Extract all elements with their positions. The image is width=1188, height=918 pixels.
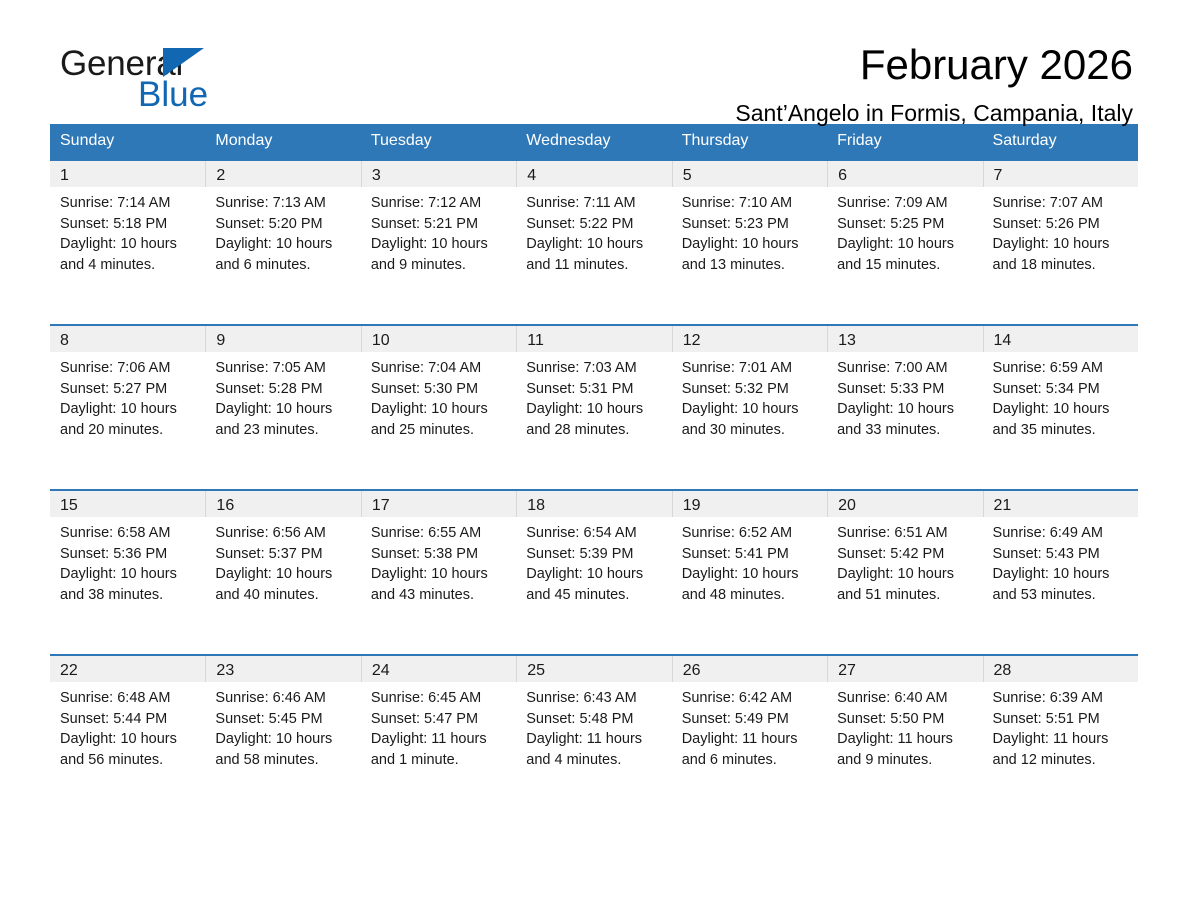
day-number: 8 [50, 326, 205, 352]
day-cell-inner: 27Sunrise: 6:40 AMSunset: 5:50 PMDayligh… [827, 656, 982, 805]
day-number: 15 [50, 491, 205, 517]
day-cell-inner: 6Sunrise: 7:09 AMSunset: 5:25 PMDaylight… [827, 161, 982, 324]
calendar-day-cell[interactable]: 19Sunrise: 6:52 AMSunset: 5:41 PMDayligh… [672, 490, 827, 655]
sunrise-text: Sunrise: 7:09 AM [837, 193, 974, 214]
daylight-text-line2: and 15 minutes. [837, 255, 974, 276]
calendar-day-cell[interactable]: 14Sunrise: 6:59 AMSunset: 5:34 PMDayligh… [983, 325, 1138, 490]
sunset-text: Sunset: 5:37 PM [215, 544, 352, 565]
daylight-text-line1: Daylight: 10 hours [837, 564, 974, 585]
daylight-text-line1: Daylight: 10 hours [993, 399, 1130, 420]
daylight-text-line2: and 1 minute. [371, 750, 508, 771]
daylight-text-line1: Daylight: 10 hours [993, 564, 1130, 585]
sunrise-text: Sunrise: 7:05 AM [215, 358, 352, 379]
sunrise-text: Sunrise: 6:59 AM [993, 358, 1130, 379]
weekday-header-thursday: Thursday [672, 124, 827, 160]
daylight-text-line1: Daylight: 10 hours [60, 729, 197, 750]
sunset-text: Sunset: 5:20 PM [215, 214, 352, 235]
calendar-day-cell[interactable]: 26Sunrise: 6:42 AMSunset: 5:49 PMDayligh… [672, 655, 827, 805]
sunset-text: Sunset: 5:27 PM [60, 379, 197, 400]
day-details: Sunrise: 6:40 AMSunset: 5:50 PMDaylight:… [827, 682, 982, 770]
calendar-day-cell[interactable]: 7Sunrise: 7:07 AMSunset: 5:26 PMDaylight… [983, 160, 1138, 325]
daylight-text-line1: Daylight: 10 hours [371, 399, 508, 420]
sunrise-text: Sunrise: 7:03 AM [526, 358, 663, 379]
day-cell-inner: 14Sunrise: 6:59 AMSunset: 5:34 PMDayligh… [983, 326, 1138, 489]
calendar-day-cell[interactable]: 2Sunrise: 7:13 AMSunset: 5:20 PMDaylight… [205, 160, 360, 325]
sunset-text: Sunset: 5:45 PM [215, 709, 352, 730]
daylight-text-line2: and 12 minutes. [993, 750, 1130, 771]
calendar-day-cell[interactable]: 10Sunrise: 7:04 AMSunset: 5:30 PMDayligh… [361, 325, 516, 490]
daylight-text-line1: Daylight: 11 hours [682, 729, 819, 750]
sunset-text: Sunset: 5:28 PM [215, 379, 352, 400]
sunset-text: Sunset: 5:48 PM [526, 709, 663, 730]
day-details: Sunrise: 6:48 AMSunset: 5:44 PMDaylight:… [50, 682, 205, 770]
daylight-text-line2: and 48 minutes. [682, 585, 819, 606]
day-details: Sunrise: 7:10 AMSunset: 5:23 PMDaylight:… [672, 187, 827, 275]
daylight-text-line2: and 33 minutes. [837, 420, 974, 441]
day-details: Sunrise: 7:01 AMSunset: 5:32 PMDaylight:… [672, 352, 827, 440]
calendar-week-row: 22Sunrise: 6:48 AMSunset: 5:44 PMDayligh… [50, 655, 1138, 805]
daylight-text-line2: and 28 minutes. [526, 420, 663, 441]
masthead: General Blue February 2026 Sant’Angelo i… [50, 0, 1138, 110]
sunrise-text: Sunrise: 7:06 AM [60, 358, 197, 379]
day-cell-inner: 9Sunrise: 7:05 AMSunset: 5:28 PMDaylight… [205, 326, 360, 489]
day-details: Sunrise: 6:43 AMSunset: 5:48 PMDaylight:… [516, 682, 671, 770]
daylight-text-line1: Daylight: 10 hours [60, 234, 197, 255]
day-details: Sunrise: 6:49 AMSunset: 5:43 PMDaylight:… [983, 517, 1138, 605]
daylight-text-line1: Daylight: 10 hours [215, 399, 352, 420]
sunrise-text: Sunrise: 7:01 AM [682, 358, 819, 379]
daylight-text-line1: Daylight: 10 hours [993, 234, 1130, 255]
daylight-text-line2: and 25 minutes. [371, 420, 508, 441]
day-number: 23 [205, 656, 360, 682]
calendar-day-cell[interactable]: 24Sunrise: 6:45 AMSunset: 5:47 PMDayligh… [361, 655, 516, 805]
day-cell-inner: 3Sunrise: 7:12 AMSunset: 5:21 PMDaylight… [361, 161, 516, 324]
day-cell-inner: 25Sunrise: 6:43 AMSunset: 5:48 PMDayligh… [516, 656, 671, 805]
sunrise-text: Sunrise: 6:45 AM [371, 688, 508, 709]
day-number: 14 [983, 326, 1138, 352]
sunrise-text: Sunrise: 6:51 AM [837, 523, 974, 544]
sunset-text: Sunset: 5:39 PM [526, 544, 663, 565]
day-details: Sunrise: 7:09 AMSunset: 5:25 PMDaylight:… [827, 187, 982, 275]
sunset-text: Sunset: 5:30 PM [371, 379, 508, 400]
daylight-text-line2: and 13 minutes. [682, 255, 819, 276]
daylight-text-line2: and 23 minutes. [215, 420, 352, 441]
daylight-text-line2: and 18 minutes. [993, 255, 1130, 276]
sunset-text: Sunset: 5:33 PM [837, 379, 974, 400]
daylight-text-line1: Daylight: 10 hours [215, 564, 352, 585]
calendar-day-cell[interactable]: 22Sunrise: 6:48 AMSunset: 5:44 PMDayligh… [50, 655, 205, 805]
logo-text-blue: Blue [138, 77, 208, 113]
day-cell-inner: 10Sunrise: 7:04 AMSunset: 5:30 PMDayligh… [361, 326, 516, 489]
day-details: Sunrise: 7:14 AMSunset: 5:18 PMDaylight:… [50, 187, 205, 275]
sunrise-text: Sunrise: 7:13 AM [215, 193, 352, 214]
day-cell-inner: 22Sunrise: 6:48 AMSunset: 5:44 PMDayligh… [50, 656, 205, 805]
calendar-day-cell[interactable]: 3Sunrise: 7:12 AMSunset: 5:21 PMDaylight… [361, 160, 516, 325]
day-cell-inner: 19Sunrise: 6:52 AMSunset: 5:41 PMDayligh… [672, 491, 827, 654]
daylight-text-line1: Daylight: 10 hours [60, 564, 197, 585]
calendar-day-cell[interactable]: 18Sunrise: 6:54 AMSunset: 5:39 PMDayligh… [516, 490, 671, 655]
sunrise-text: Sunrise: 6:42 AM [682, 688, 819, 709]
day-number: 4 [516, 161, 671, 187]
weekday-header-friday: Friday [827, 124, 982, 160]
day-cell-inner: 16Sunrise: 6:56 AMSunset: 5:37 PMDayligh… [205, 491, 360, 654]
daylight-text-line1: Daylight: 10 hours [215, 234, 352, 255]
calendar-day-cell[interactable]: 1Sunrise: 7:14 AMSunset: 5:18 PMDaylight… [50, 160, 205, 325]
sunset-text: Sunset: 5:32 PM [682, 379, 819, 400]
calendar-day-cell[interactable]: 6Sunrise: 7:09 AMSunset: 5:25 PMDaylight… [827, 160, 982, 325]
sunset-text: Sunset: 5:38 PM [371, 544, 508, 565]
weekday-header-sunday: Sunday [50, 124, 205, 160]
day-details: Sunrise: 6:46 AMSunset: 5:45 PMDaylight:… [205, 682, 360, 770]
day-number: 16 [205, 491, 360, 517]
day-details: Sunrise: 7:00 AMSunset: 5:33 PMDaylight:… [827, 352, 982, 440]
calendar-day-cell[interactable]: 5Sunrise: 7:10 AMSunset: 5:23 PMDaylight… [672, 160, 827, 325]
sunrise-text: Sunrise: 6:48 AM [60, 688, 197, 709]
day-number: 7 [983, 161, 1138, 187]
calendar-week-row: 8Sunrise: 7:06 AMSunset: 5:27 PMDaylight… [50, 325, 1138, 490]
day-cell-inner: 24Sunrise: 6:45 AMSunset: 5:47 PMDayligh… [361, 656, 516, 805]
sunset-text: Sunset: 5:50 PM [837, 709, 974, 730]
sunrise-text: Sunrise: 7:07 AM [993, 193, 1130, 214]
daylight-text-line1: Daylight: 10 hours [526, 399, 663, 420]
day-number: 12 [672, 326, 827, 352]
day-number: 11 [516, 326, 671, 352]
day-number: 22 [50, 656, 205, 682]
day-cell-inner: 13Sunrise: 7:00 AMSunset: 5:33 PMDayligh… [827, 326, 982, 489]
calendar-table: Sunday Monday Tuesday Wednesday Thursday… [50, 124, 1138, 805]
sunrise-text: Sunrise: 6:55 AM [371, 523, 508, 544]
day-details: Sunrise: 7:05 AMSunset: 5:28 PMDaylight:… [205, 352, 360, 440]
sunset-text: Sunset: 5:26 PM [993, 214, 1130, 235]
sunset-text: Sunset: 5:34 PM [993, 379, 1130, 400]
sunset-text: Sunset: 5:18 PM [60, 214, 197, 235]
sunrise-text: Sunrise: 7:11 AM [526, 193, 663, 214]
sunset-text: Sunset: 5:51 PM [993, 709, 1130, 730]
daylight-text-line2: and 56 minutes. [60, 750, 197, 771]
day-cell-inner: 26Sunrise: 6:42 AMSunset: 5:49 PMDayligh… [672, 656, 827, 805]
day-details: Sunrise: 7:03 AMSunset: 5:31 PMDaylight:… [516, 352, 671, 440]
day-number: 6 [827, 161, 982, 187]
sunrise-text: Sunrise: 6:54 AM [526, 523, 663, 544]
sunset-text: Sunset: 5:23 PM [682, 214, 819, 235]
daylight-text-line2: and 43 minutes. [371, 585, 508, 606]
day-details: Sunrise: 6:59 AMSunset: 5:34 PMDaylight:… [983, 352, 1138, 440]
calendar-day-cell[interactable]: 20Sunrise: 6:51 AMSunset: 5:42 PMDayligh… [827, 490, 982, 655]
sunset-text: Sunset: 5:43 PM [993, 544, 1130, 565]
day-cell-inner: 12Sunrise: 7:01 AMSunset: 5:32 PMDayligh… [672, 326, 827, 489]
day-cell-inner: 15Sunrise: 6:58 AMSunset: 5:36 PMDayligh… [50, 491, 205, 654]
calendar-day-cell[interactable]: 8Sunrise: 7:06 AMSunset: 5:27 PMDaylight… [50, 325, 205, 490]
daylight-text-line2: and 40 minutes. [215, 585, 352, 606]
day-details: Sunrise: 7:04 AMSunset: 5:30 PMDaylight:… [361, 352, 516, 440]
daylight-text-line1: Daylight: 11 hours [371, 729, 508, 750]
sunset-text: Sunset: 5:25 PM [837, 214, 974, 235]
day-number: 5 [672, 161, 827, 187]
daylight-text-line2: and 35 minutes. [993, 420, 1130, 441]
weekday-header-tuesday: Tuesday [361, 124, 516, 160]
day-number: 10 [361, 326, 516, 352]
day-number: 1 [50, 161, 205, 187]
sunset-text: Sunset: 5:22 PM [526, 214, 663, 235]
weekday-header-wednesday: Wednesday [516, 124, 671, 160]
day-details: Sunrise: 6:56 AMSunset: 5:37 PMDaylight:… [205, 517, 360, 605]
sunrise-text: Sunrise: 7:12 AM [371, 193, 508, 214]
daylight-text-line2: and 58 minutes. [215, 750, 352, 771]
daylight-text-line2: and 38 minutes. [60, 585, 197, 606]
sunrise-text: Sunrise: 6:40 AM [837, 688, 974, 709]
daylight-text-line2: and 6 minutes. [215, 255, 352, 276]
calendar-header: Sunday Monday Tuesday Wednesday Thursday… [50, 124, 1138, 160]
daylight-text-line1: Daylight: 10 hours [682, 234, 819, 255]
sunrise-text: Sunrise: 7:00 AM [837, 358, 974, 379]
day-cell-inner: 11Sunrise: 7:03 AMSunset: 5:31 PMDayligh… [516, 326, 671, 489]
sunrise-text: Sunrise: 6:58 AM [60, 523, 197, 544]
day-number: 27 [827, 656, 982, 682]
day-cell-inner: 1Sunrise: 7:14 AMSunset: 5:18 PMDaylight… [50, 161, 205, 324]
logo-triangle-icon [163, 48, 204, 77]
day-cell-inner: 20Sunrise: 6:51 AMSunset: 5:42 PMDayligh… [827, 491, 982, 654]
day-details: Sunrise: 7:06 AMSunset: 5:27 PMDaylight:… [50, 352, 205, 440]
sunrise-text: Sunrise: 7:10 AM [682, 193, 819, 214]
daylight-text-line2: and 45 minutes. [526, 585, 663, 606]
daylight-text-line1: Daylight: 10 hours [682, 399, 819, 420]
day-number: 28 [983, 656, 1138, 682]
sunset-text: Sunset: 5:36 PM [60, 544, 197, 565]
sunrise-text: Sunrise: 7:04 AM [371, 358, 508, 379]
sunset-text: Sunset: 5:47 PM [371, 709, 508, 730]
calendar-week-row: 1Sunrise: 7:14 AMSunset: 5:18 PMDaylight… [50, 160, 1138, 325]
day-number: 2 [205, 161, 360, 187]
day-number: 19 [672, 491, 827, 517]
daylight-text-line2: and 53 minutes. [993, 585, 1130, 606]
day-number: 18 [516, 491, 671, 517]
calendar-day-cell[interactable]: 15Sunrise: 6:58 AMSunset: 5:36 PMDayligh… [50, 490, 205, 655]
day-details: Sunrise: 6:39 AMSunset: 5:51 PMDaylight:… [983, 682, 1138, 770]
sunrise-text: Sunrise: 6:52 AM [682, 523, 819, 544]
weekday-header-row: Sunday Monday Tuesday Wednesday Thursday… [50, 124, 1138, 160]
daylight-text-line2: and 4 minutes. [60, 255, 197, 276]
day-number: 26 [672, 656, 827, 682]
daylight-text-line2: and 6 minutes. [682, 750, 819, 771]
day-cell-inner: 23Sunrise: 6:46 AMSunset: 5:45 PMDayligh… [205, 656, 360, 805]
day-number: 9 [205, 326, 360, 352]
day-details: Sunrise: 6:55 AMSunset: 5:38 PMDaylight:… [361, 517, 516, 605]
day-number: 20 [827, 491, 982, 517]
daylight-text-line1: Daylight: 10 hours [215, 729, 352, 750]
day-cell-inner: 18Sunrise: 6:54 AMSunset: 5:39 PMDayligh… [516, 491, 671, 654]
day-cell-inner: 7Sunrise: 7:07 AMSunset: 5:26 PMDaylight… [983, 161, 1138, 324]
day-cell-inner: 8Sunrise: 7:06 AMSunset: 5:27 PMDaylight… [50, 326, 205, 489]
sunset-text: Sunset: 5:42 PM [837, 544, 974, 565]
day-details: Sunrise: 6:42 AMSunset: 5:49 PMDaylight:… [672, 682, 827, 770]
calendar-day-cell[interactable]: 21Sunrise: 6:49 AMSunset: 5:43 PMDayligh… [983, 490, 1138, 655]
day-number: 3 [361, 161, 516, 187]
weekday-header-monday: Monday [205, 124, 360, 160]
sunrise-text: Sunrise: 6:43 AM [526, 688, 663, 709]
sunrise-text: Sunrise: 7:14 AM [60, 193, 197, 214]
daylight-text-line1: Daylight: 10 hours [682, 564, 819, 585]
daylight-text-line2: and 20 minutes. [60, 420, 197, 441]
sunrise-text: Sunrise: 6:39 AM [993, 688, 1130, 709]
daylight-text-line1: Daylight: 11 hours [837, 729, 974, 750]
calendar-body: 1Sunrise: 7:14 AMSunset: 5:18 PMDaylight… [50, 160, 1138, 805]
day-cell-inner: 21Sunrise: 6:49 AMSunset: 5:43 PMDayligh… [983, 491, 1138, 654]
daylight-text-line2: and 9 minutes. [371, 255, 508, 276]
calendar-week-row: 15Sunrise: 6:58 AMSunset: 5:36 PMDayligh… [50, 490, 1138, 655]
daylight-text-line2: and 11 minutes. [526, 255, 663, 276]
day-details: Sunrise: 7:12 AMSunset: 5:21 PMDaylight:… [361, 187, 516, 275]
calendar-day-cell[interactable]: 16Sunrise: 6:56 AMSunset: 5:37 PMDayligh… [205, 490, 360, 655]
day-cell-inner: 28Sunrise: 6:39 AMSunset: 5:51 PMDayligh… [983, 656, 1138, 805]
daylight-text-line1: Daylight: 10 hours [526, 234, 663, 255]
sunset-text: Sunset: 5:44 PM [60, 709, 197, 730]
daylight-text-line1: Daylight: 10 hours [371, 564, 508, 585]
day-number: 21 [983, 491, 1138, 517]
daylight-text-line1: Daylight: 10 hours [60, 399, 197, 420]
daylight-text-line1: Daylight: 10 hours [526, 564, 663, 585]
calendar-day-cell[interactable]: 28Sunrise: 6:39 AMSunset: 5:51 PMDayligh… [983, 655, 1138, 805]
day-number: 24 [361, 656, 516, 682]
calendar-day-cell[interactable]: 17Sunrise: 6:55 AMSunset: 5:38 PMDayligh… [361, 490, 516, 655]
day-cell-inner: 2Sunrise: 7:13 AMSunset: 5:20 PMDaylight… [205, 161, 360, 324]
sunset-text: Sunset: 5:31 PM [526, 379, 663, 400]
day-details: Sunrise: 6:52 AMSunset: 5:41 PMDaylight:… [672, 517, 827, 605]
sunset-text: Sunset: 5:21 PM [371, 214, 508, 235]
day-details: Sunrise: 6:51 AMSunset: 5:42 PMDaylight:… [827, 517, 982, 605]
daylight-text-line2: and 9 minutes. [837, 750, 974, 771]
daylight-text-line1: Daylight: 11 hours [526, 729, 663, 750]
calendar-day-cell[interactable]: 25Sunrise: 6:43 AMSunset: 5:48 PMDayligh… [516, 655, 671, 805]
day-cell-inner: 4Sunrise: 7:11 AMSunset: 5:22 PMDaylight… [516, 161, 671, 324]
daylight-text-line1: Daylight: 10 hours [837, 234, 974, 255]
daylight-text-line2: and 4 minutes. [526, 750, 663, 771]
sunrise-text: Sunrise: 6:49 AM [993, 523, 1130, 544]
daylight-text-line2: and 30 minutes. [682, 420, 819, 441]
calendar-day-cell[interactable]: 12Sunrise: 7:01 AMSunset: 5:32 PMDayligh… [672, 325, 827, 490]
daylight-text-line1: Daylight: 10 hours [371, 234, 508, 255]
calendar-day-cell[interactable]: 23Sunrise: 6:46 AMSunset: 5:45 PMDayligh… [205, 655, 360, 805]
calendar-day-cell[interactable]: 27Sunrise: 6:40 AMSunset: 5:50 PMDayligh… [827, 655, 982, 805]
day-details: Sunrise: 6:54 AMSunset: 5:39 PMDaylight:… [516, 517, 671, 605]
calendar-day-cell[interactable]: 11Sunrise: 7:03 AMSunset: 5:31 PMDayligh… [516, 325, 671, 490]
day-number: 17 [361, 491, 516, 517]
day-cell-inner: 5Sunrise: 7:10 AMSunset: 5:23 PMDaylight… [672, 161, 827, 324]
calendar-day-cell[interactable]: 9Sunrise: 7:05 AMSunset: 5:28 PMDaylight… [205, 325, 360, 490]
daylight-text-line2: and 51 minutes. [837, 585, 974, 606]
day-number: 25 [516, 656, 671, 682]
calendar-day-cell[interactable]: 4Sunrise: 7:11 AMSunset: 5:22 PMDaylight… [516, 160, 671, 325]
sunrise-text: Sunrise: 6:56 AM [215, 523, 352, 544]
sunrise-text: Sunrise: 6:46 AM [215, 688, 352, 709]
sunset-text: Sunset: 5:49 PM [682, 709, 819, 730]
day-number: 13 [827, 326, 982, 352]
day-details: Sunrise: 6:58 AMSunset: 5:36 PMDaylight:… [50, 517, 205, 605]
day-details: Sunrise: 7:13 AMSunset: 5:20 PMDaylight:… [205, 187, 360, 275]
day-details: Sunrise: 7:07 AMSunset: 5:26 PMDaylight:… [983, 187, 1138, 275]
day-details: Sunrise: 7:11 AMSunset: 5:22 PMDaylight:… [516, 187, 671, 275]
daylight-text-line1: Daylight: 10 hours [837, 399, 974, 420]
calendar-page: General Blue February 2026 Sant’Angelo i… [0, 0, 1188, 918]
day-details: Sunrise: 6:45 AMSunset: 5:47 PMDaylight:… [361, 682, 516, 770]
sunset-text: Sunset: 5:41 PM [682, 544, 819, 565]
calendar-day-cell[interactable]: 13Sunrise: 7:00 AMSunset: 5:33 PMDayligh… [827, 325, 982, 490]
daylight-text-line1: Daylight: 11 hours [993, 729, 1130, 750]
general-blue-logo[interactable]: General Blue [60, 46, 320, 118]
day-cell-inner: 17Sunrise: 6:55 AMSunset: 5:38 PMDayligh… [361, 491, 516, 654]
weekday-header-saturday: Saturday [983, 124, 1138, 160]
